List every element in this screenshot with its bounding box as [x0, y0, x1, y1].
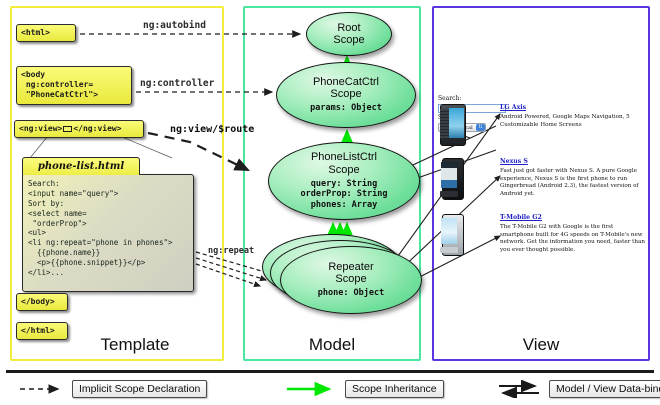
phone-name-link[interactable]: Nexus S — [500, 158, 646, 165]
template-file-callout: phone-list.html Search: <input name="que… — [22, 157, 194, 292]
t-mobile-g2-phone-icon — [438, 214, 468, 258]
rendered-app: Search: Google Sort by: Alphabetical⇅ LG… — [438, 96, 646, 296]
lg-axis-phone-icon — [438, 104, 468, 148]
ngview-close-tag: </ng:view> — [73, 124, 121, 133]
phone-snippet: Android Powered, Google Maps Navigation,… — [500, 114, 646, 129]
scope-phonelistctrl-title: PhoneListCtrlScope — [311, 151, 377, 175]
nexus-s-phone-icon — [438, 158, 468, 202]
template-file-name: phone-list.html — [22, 157, 140, 175]
scope-root: RootScope — [306, 12, 392, 56]
code-box-body-close: </body> — [16, 293, 68, 311]
ngview-placeholder-icon — [63, 126, 72, 132]
legend-label-scope-inheritance: Scope Inheritance — [345, 380, 444, 398]
wire-label-ngview-route: ng:view/$route — [170, 124, 254, 135]
wire-label-controller: ng:controller — [140, 78, 214, 89]
phone-name-link[interactable]: T-Mobile G2 — [500, 214, 646, 221]
wire-label-ngrepeat: ng:repeat — [208, 246, 254, 256]
search-label: Search: — [438, 96, 461, 103]
dashed-arrow-icon — [18, 380, 68, 398]
code-box-html-open: <html> — [16, 24, 76, 42]
scope-repeater-props: phone: Object — [318, 288, 385, 299]
column-label-model: Model — [245, 335, 419, 355]
phone-list-item[interactable]: LG Axis Android Powered, Google Maps Nav… — [500, 104, 646, 129]
wire-label-autobind: ng:autobind — [143, 20, 206, 31]
code-box-html-close: </html> — [16, 322, 68, 340]
scope-phonecatctrl-props: params: Object — [310, 103, 382, 114]
legend-label-implicit-scope: Implicit Scope Declaration — [72, 380, 207, 398]
phone-snippet: The T-Mobile G2 with Google is the first… — [500, 224, 646, 254]
ngview-open-tag: <ng:view> — [19, 124, 62, 133]
scope-phonelistctrl: PhoneListCtrlScope query: String orderPr… — [268, 142, 420, 220]
phone-list-item[interactable]: Nexus S Fast just got faster with Nexus … — [500, 158, 646, 198]
phone-list-item[interactable]: T-Mobile G2 The T-Mobile G2 with Google … — [500, 214, 646, 254]
scope-repeater: RepeaterScope phone: Object — [280, 246, 422, 314]
legend-label-data-binding: Model / View Data-binding — [549, 380, 660, 398]
scope-phonecatctrl-title: PhoneCatCtrlScope — [313, 76, 379, 100]
code-box-body-open: <body ng:controller= "PhoneCatCtrl"> — [16, 66, 132, 105]
phone-snippet: Fast just got faster with Nexus S. A pur… — [500, 168, 646, 198]
template-file-code: Search: <input name="query"> Sort by: <s… — [22, 174, 194, 292]
scope-repeater-title: RepeaterScope — [328, 261, 373, 285]
legend: Implicit Scope Declaration Scope Inherit… — [0, 370, 660, 405]
column-label-view: View — [434, 335, 648, 355]
scope-phonelistctrl-props: query: String orderProp: String phones: … — [301, 179, 388, 211]
diagram-canvas: Template Model View — [0, 0, 660, 405]
phone-name-link[interactable]: LG Axis — [500, 104, 646, 111]
scope-root-title: RootScope — [333, 22, 364, 46]
scope-phonecatctrl: PhoneCatCtrlScope params: Object — [276, 62, 416, 128]
code-box-ngview: <ng:view></ng:view> — [14, 120, 144, 138]
updown-arrow-icon: ⇅ — [476, 124, 485, 131]
double-arrow-icon — [497, 380, 545, 398]
green-arrow-icon — [285, 380, 340, 398]
legend-divider — [6, 370, 654, 373]
